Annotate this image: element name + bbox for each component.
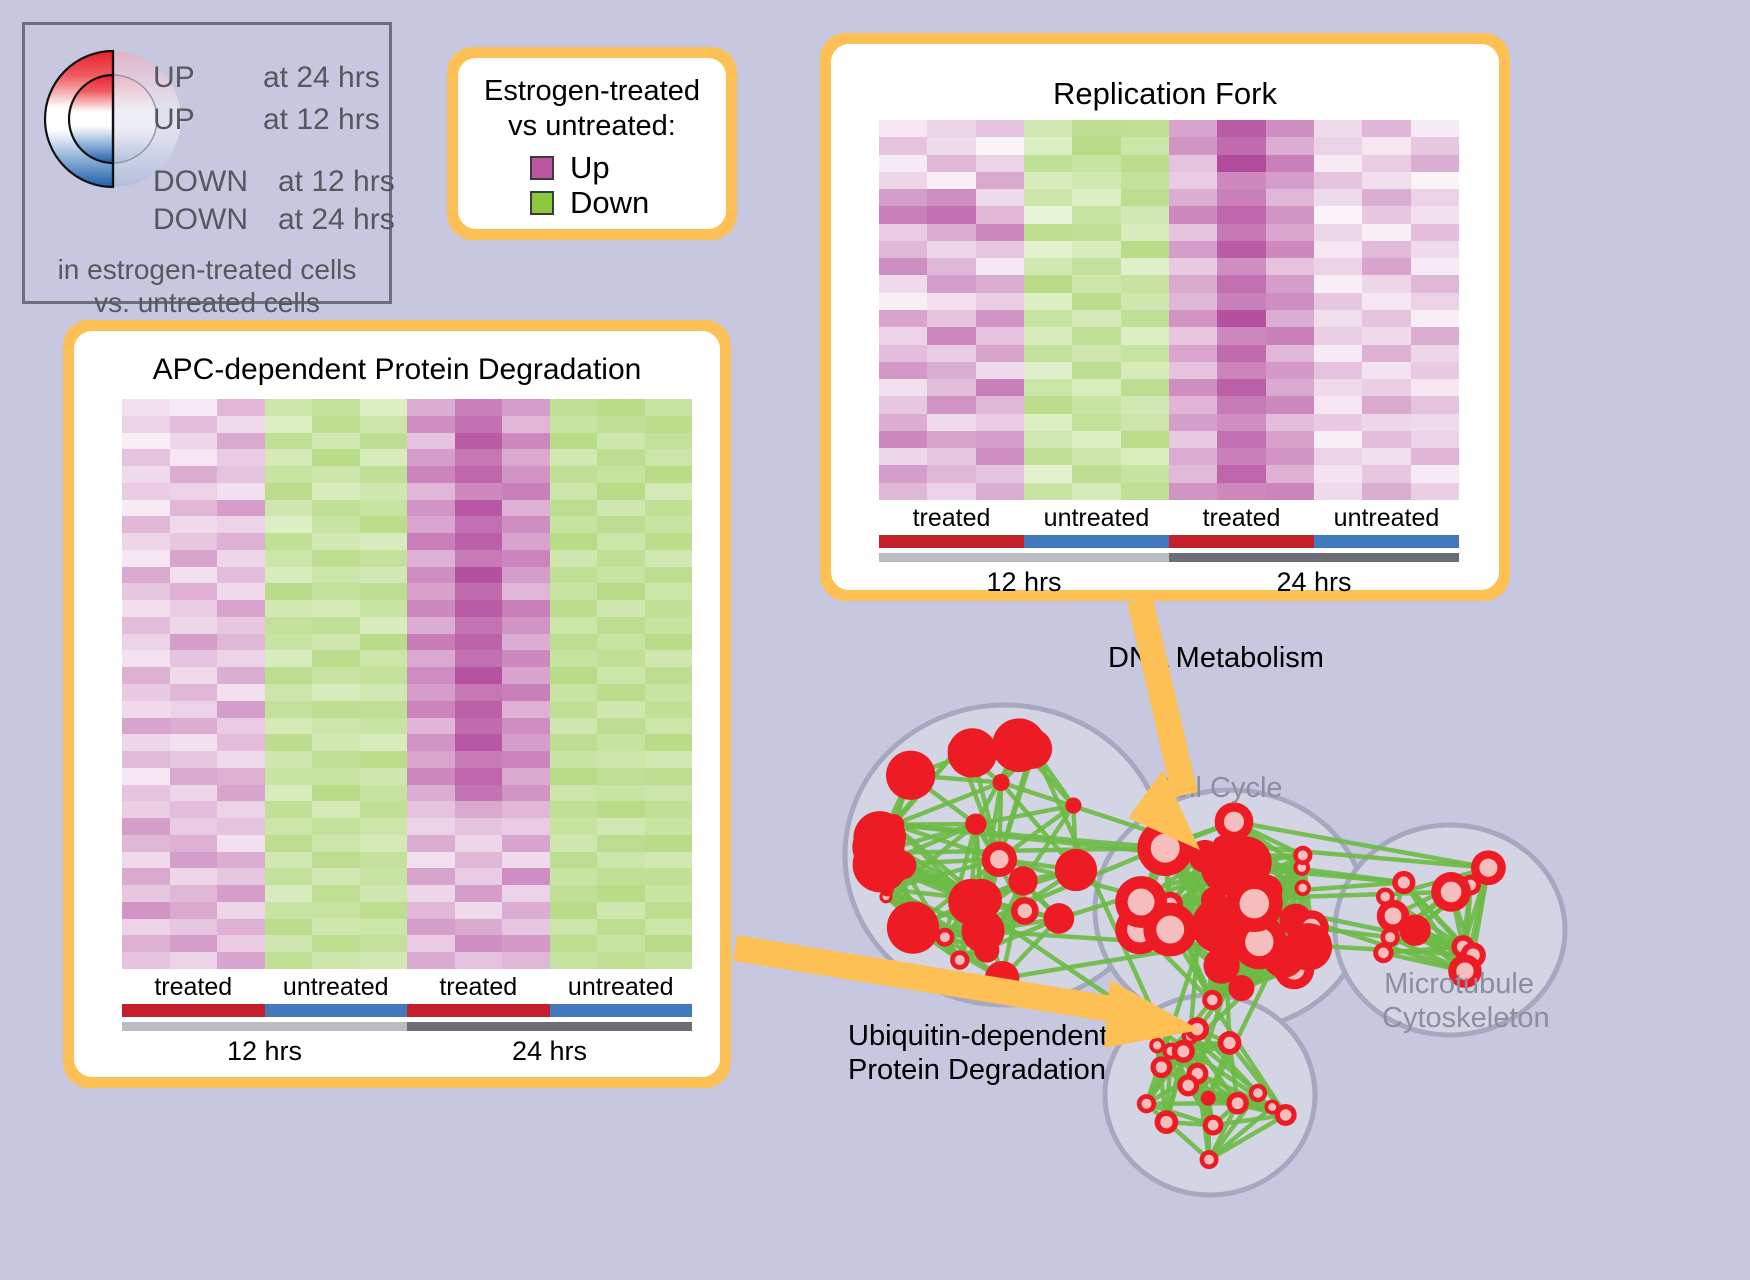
heatmap-cell [170, 600, 218, 617]
heatmap-cell [407, 785, 455, 802]
heatmap-cell [976, 414, 1024, 431]
heatmap-cell [407, 952, 455, 969]
heatmap-cell [976, 379, 1024, 396]
heatmap-cell [312, 902, 360, 919]
heatmap-cell [645, 801, 693, 818]
heatmap-cell [550, 449, 598, 466]
heatmap-cell [550, 667, 598, 684]
heatmap-cell [1121, 310, 1169, 327]
heatmap-cell [455, 852, 503, 869]
heatmap-cell [170, 801, 218, 818]
heatmap-cell [1217, 172, 1265, 189]
heatmap-cell [217, 952, 265, 969]
heatmap-cell [265, 449, 313, 466]
apc-degradation-heatmap [122, 399, 692, 969]
heatmap-cell [597, 550, 645, 567]
heatmap-cell [122, 952, 170, 969]
heatmap-cell [407, 466, 455, 483]
heatmap-cell [550, 483, 598, 500]
network-node [948, 728, 997, 777]
legend-direction: UP [153, 103, 263, 137]
heatmap-cell [122, 684, 170, 701]
heatmap-cell [312, 919, 360, 936]
heatmap-cell [360, 416, 408, 433]
heatmap-cell [1024, 310, 1072, 327]
heatmap-cell [265, 818, 313, 835]
heatmap-cell [927, 172, 975, 189]
heatmap-cell [597, 718, 645, 735]
heatmap-cell [1121, 172, 1169, 189]
heatmap-cell [1217, 310, 1265, 327]
heatmap-cell [1266, 396, 1314, 413]
legend-row-up-24: UP at 24 hrs [153, 61, 380, 95]
heatmap-cell [879, 224, 927, 241]
heatmap-cell [1024, 396, 1072, 413]
treatment-color-bar [879, 535, 1459, 548]
heatmap-cell [1411, 206, 1459, 223]
treatment-bar-segment [1169, 535, 1314, 548]
heatmap-cell [1266, 275, 1314, 292]
heatmap-cell [265, 885, 313, 902]
heatmap-cell [312, 416, 360, 433]
heatmap-cell [265, 801, 313, 818]
heatmap-cell [645, 516, 693, 533]
heatmap-cell [502, 835, 550, 852]
heatmap-cell [455, 600, 503, 617]
heatmap-cell [1411, 310, 1459, 327]
heatmap-cell [645, 449, 693, 466]
heatmap-cell [455, 483, 503, 500]
heatmap-cell [1024, 362, 1072, 379]
heatmap-cell [1217, 327, 1265, 344]
legend-row-up-12: UP at 12 hrs [153, 103, 380, 137]
heatmap-cell [170, 583, 218, 600]
heatmap-cell [407, 600, 455, 617]
heatmap-cell [1266, 448, 1314, 465]
heatmap-cell [645, 466, 693, 483]
heatmap-cell [1169, 241, 1217, 258]
heatmap-cell [1411, 155, 1459, 172]
heatmap-cell [360, 567, 408, 584]
network-node [1065, 798, 1081, 814]
timepoint-labels: 12 hrs 24 hrs [879, 567, 1459, 598]
apc-degradation-panel: APC-dependent Protein Degradation treate… [63, 320, 731, 1088]
heatmap-cell [122, 516, 170, 533]
heatmap-cell [502, 634, 550, 651]
heatmap-cell [502, 500, 550, 517]
timepoint-color-bar [122, 1022, 692, 1031]
heatmap-cell [217, 768, 265, 785]
network-node [886, 751, 935, 800]
heatmap-cell [879, 345, 927, 362]
heatmap-cell [265, 667, 313, 684]
heatmap-cell [1121, 414, 1169, 431]
timepoint-bar-segment [122, 1022, 407, 1031]
heatmap-cell [1362, 224, 1410, 241]
heatmap-cell [879, 137, 927, 154]
heatmap-cell [122, 533, 170, 550]
heatmap-cell [976, 137, 1024, 154]
heatmap-cell [645, 919, 693, 936]
heatmap-cell [360, 768, 408, 785]
heatmap-cell [645, 751, 693, 768]
heatmap-cell [122, 919, 170, 936]
heatmap-cell [502, 567, 550, 584]
heatmap-cell [455, 734, 503, 751]
heatmap-cell [1121, 206, 1169, 223]
heatmap-cell [597, 818, 645, 835]
heatmap-cell [312, 433, 360, 450]
heatmap-cell [502, 818, 550, 835]
heatmap-cell [1169, 275, 1217, 292]
heatmap-cell [1024, 431, 1072, 448]
heatmap-cell [217, 734, 265, 751]
heatmap-cell [645, 483, 693, 500]
heatmap-cell [976, 206, 1024, 223]
heatmap-cell [312, 751, 360, 768]
timepoint-label: 24 hrs [1169, 567, 1459, 598]
heatmap-cell [217, 449, 265, 466]
heatmap-cell [1024, 172, 1072, 189]
heatmap-cell [1169, 189, 1217, 206]
cluster-label-microtubule-cytoskeleton: Microtubule Cytoskeleton [1382, 968, 1534, 1035]
heatmap-cell [597, 500, 645, 517]
heatmap-cell [597, 868, 645, 885]
heatmap-cell [1411, 362, 1459, 379]
heatmap-cell [1072, 224, 1120, 241]
color-key-title-line2: vs untreated: [458, 109, 726, 144]
heatmap-cell [312, 483, 360, 500]
heatmap-cell [312, 617, 360, 634]
heatmap-cell [1217, 275, 1265, 292]
legend-time: at 24 hrs [263, 61, 380, 95]
heatmap-cell [1072, 120, 1120, 137]
heatmap-cell [1072, 414, 1120, 431]
heatmap-cell [265, 684, 313, 701]
heatmap-cell [1362, 448, 1410, 465]
heatmap-cell [550, 650, 598, 667]
heatmap-cell [879, 172, 927, 189]
network-node [1201, 1091, 1216, 1106]
heatmap-cell [1362, 120, 1410, 137]
heatmap-cell [645, 500, 693, 517]
network-node [993, 774, 1010, 791]
heatmap-cell [1169, 362, 1217, 379]
heatmap-cell [1121, 189, 1169, 206]
heatmap-cell [1121, 224, 1169, 241]
heatmap-cell [502, 483, 550, 500]
treatment-bar-segment [1024, 535, 1169, 548]
heatmap-cell [550, 801, 598, 818]
heatmap-cell [122, 466, 170, 483]
heatmap-cell [312, 550, 360, 567]
network-node [1055, 849, 1097, 891]
heatmap-cell [1314, 120, 1362, 137]
heatmap-cell [407, 885, 455, 902]
heatmap-cell [217, 801, 265, 818]
heatmap-cell [597, 416, 645, 433]
heatmap-cell [455, 416, 503, 433]
heatmap-cell [360, 919, 408, 936]
heatmap-cell [976, 293, 1024, 310]
heatmap-cell [597, 885, 645, 902]
heatmap-cell [1072, 327, 1120, 344]
heatmap-cell [1169, 448, 1217, 465]
heatmap-cell [597, 701, 645, 718]
heatmap-cell [1024, 465, 1072, 482]
group-name: treated [1169, 504, 1314, 533]
heatmap-cell [645, 684, 693, 701]
heatmap-cell [312, 449, 360, 466]
heatmap-cell [976, 275, 1024, 292]
heatmap-cell [1362, 155, 1410, 172]
heatmap-cell [170, 952, 218, 969]
heatmap-cell [879, 120, 927, 137]
heatmap-cell [927, 327, 975, 344]
replication-fork-axis: treated untreated treated untreated 12 h… [879, 504, 1459, 598]
heatmap-cell [976, 172, 1024, 189]
heatmap-cell [1072, 155, 1120, 172]
heatmap-cell [312, 516, 360, 533]
heatmap-cell [1266, 120, 1314, 137]
heatmap-cell [1314, 362, 1362, 379]
heatmap-cell [1217, 155, 1265, 172]
heatmap-cell [1266, 241, 1314, 258]
replication-fork-heatmap [879, 120, 1459, 500]
heatmap-cell [1314, 310, 1362, 327]
heatmap-cell [1072, 293, 1120, 310]
heatmap-cell [1217, 137, 1265, 154]
heatmap-cell [1217, 241, 1265, 258]
heatmap-cell [312, 399, 360, 416]
heatmap-cell [360, 466, 408, 483]
heatmap-cell [1072, 310, 1120, 327]
heatmap-cell [645, 533, 693, 550]
heatmap-cell [122, 751, 170, 768]
heatmap-cell [502, 734, 550, 751]
heatmap-cell [502, 701, 550, 718]
heatmap-cell [265, 852, 313, 869]
heatmap-cell [1217, 483, 1265, 500]
heatmap-cell [502, 433, 550, 450]
heatmap-cell [1314, 379, 1362, 396]
heatmap-cell [1217, 465, 1265, 482]
heatmap-cell [265, 550, 313, 567]
heatmap-cell [122, 785, 170, 802]
heatmap-cell [879, 448, 927, 465]
heatmap-cell [550, 902, 598, 919]
heatmap-cell [1121, 396, 1169, 413]
heatmap-cell [312, 852, 360, 869]
heatmap-cell [645, 550, 693, 567]
heatmap-cell [502, 516, 550, 533]
replication-fork-title: Replication Fork [831, 76, 1499, 112]
heatmap-cell [1024, 414, 1072, 431]
heatmap-cell [1169, 327, 1217, 344]
heatmap-cell [1024, 327, 1072, 344]
legend-direction: DOWN [153, 203, 278, 237]
heatmap-cell [360, 634, 408, 651]
heatmap-cell [360, 600, 408, 617]
heatmap-cell [550, 701, 598, 718]
heatmap-cell [1024, 189, 1072, 206]
heatmap-cell [1024, 120, 1072, 137]
treatment-bar-segment [1314, 535, 1459, 548]
heatmap-cell [1314, 345, 1362, 362]
heatmap-cell [170, 684, 218, 701]
heatmap-cell [1314, 224, 1362, 241]
heatmap-cell [170, 818, 218, 835]
heatmap-cell [122, 500, 170, 517]
heatmap-cell [1072, 258, 1120, 275]
heatmap-cell [879, 258, 927, 275]
legend-time: at 12 hrs [278, 165, 395, 199]
heatmap-cell [1121, 448, 1169, 465]
heatmap-cell [597, 801, 645, 818]
heatmap-cell [976, 241, 1024, 258]
heatmap-cell [170, 449, 218, 466]
legend-caption-line2: vs. untreated cells [25, 286, 389, 319]
heatmap-cell [550, 868, 598, 885]
heatmap-cell [550, 416, 598, 433]
heatmap-cell [265, 483, 313, 500]
heatmap-cell [645, 399, 693, 416]
heatmap-cell [1314, 465, 1362, 482]
heatmap-cell [407, 449, 455, 466]
heatmap-cell [455, 399, 503, 416]
heatmap-cell [1217, 379, 1265, 396]
heatmap-cell [312, 718, 360, 735]
heatmap-cell [407, 919, 455, 936]
heatmap-cell [597, 751, 645, 768]
heatmap-cell [976, 431, 1024, 448]
heatmap-cell [1121, 293, 1169, 310]
heatmap-cell [170, 399, 218, 416]
heatmap-cell [122, 852, 170, 869]
heatmap-cell [502, 667, 550, 684]
heatmap-cell [217, 399, 265, 416]
heatmap-cell [360, 500, 408, 517]
heatmap-cell [645, 768, 693, 785]
heatmap-cell [502, 751, 550, 768]
heatmap-cell [597, 399, 645, 416]
heatmap-cell [1314, 396, 1362, 413]
heatmap-cell [455, 902, 503, 919]
heatmap-cell [1411, 465, 1459, 482]
heatmap-cell [550, 583, 598, 600]
heatmap-cell [550, 852, 598, 869]
heatmap-cell [312, 768, 360, 785]
heatmap-cell [1411, 327, 1459, 344]
heatmap-cell [597, 567, 645, 584]
heatmap-cell [407, 567, 455, 584]
heatmap-cell [170, 433, 218, 450]
heatmap-cell [217, 935, 265, 952]
heatmap-cell [1072, 345, 1120, 362]
heatmap-cell [879, 275, 927, 292]
heatmap-cell [455, 617, 503, 634]
legend-direction: DOWN [153, 165, 278, 199]
legend-caption: in estrogen-treated cells vs. untreated … [25, 253, 389, 319]
heatmap-cell [1314, 137, 1362, 154]
legend-direction: UP [153, 61, 263, 95]
heatmap-cell [265, 500, 313, 517]
heatmap-cell [645, 600, 693, 617]
heatmap-cell [217, 617, 265, 634]
color-key-title-line1: Estrogen-treated [458, 74, 726, 109]
heatmap-cell [1411, 224, 1459, 241]
heatmap-cell [927, 293, 975, 310]
heatmap-cell [1314, 414, 1362, 431]
heatmap-cell [502, 868, 550, 885]
heatmap-cell [122, 583, 170, 600]
heatmap-cell [1072, 379, 1120, 396]
heatmap-cell [879, 293, 927, 310]
heatmap-cell [455, 768, 503, 785]
heatmap-cell [597, 634, 645, 651]
heatmap-cell [1411, 483, 1459, 500]
heatmap-cell [360, 550, 408, 567]
heatmap-cell [1266, 362, 1314, 379]
cluster-label-dna-metabolism: DNA Metabolism [1108, 642, 1324, 676]
heatmap-cell [879, 483, 927, 500]
heatmap-cell [312, 533, 360, 550]
heatmap-cell [645, 567, 693, 584]
heatmap-cell [217, 583, 265, 600]
heatmap-cell [1217, 189, 1265, 206]
cluster-label-line1: Ubiquitin-dependent [848, 1020, 1108, 1054]
heatmap-cell [550, 835, 598, 852]
heatmap-cell [407, 634, 455, 651]
heatmap-cell [1266, 258, 1314, 275]
heatmap-cell [597, 466, 645, 483]
heatmap-cell [597, 483, 645, 500]
heatmap-cell [265, 650, 313, 667]
heatmap-cell [1169, 120, 1217, 137]
heatmap-cell [455, 935, 503, 952]
heatmap-cell [170, 919, 218, 936]
heatmap-cell [879, 431, 927, 448]
heatmap-cell [122, 399, 170, 416]
heatmap-cell [170, 835, 218, 852]
heatmap-cell [312, 868, 360, 885]
heatmap-cell [502, 600, 550, 617]
heatmap-cell [122, 868, 170, 885]
heatmap-cell [879, 396, 927, 413]
heatmap-cell [550, 617, 598, 634]
network-node [1285, 923, 1332, 970]
heatmap-cell [1169, 414, 1217, 431]
heatmap-cell [217, 751, 265, 768]
heatmap-cell [550, 935, 598, 952]
heatmap-cell [312, 583, 360, 600]
heatmap-cell [550, 768, 598, 785]
heatmap-cell [1024, 275, 1072, 292]
heatmap-cell [360, 650, 408, 667]
heatmap-cell [122, 734, 170, 751]
heatmap-cell [976, 448, 1024, 465]
group-names: treated untreated treated untreated [122, 973, 692, 1002]
heatmap-cell [927, 206, 975, 223]
heatmap-cell [407, 701, 455, 718]
heatmap-cell [597, 684, 645, 701]
heatmap-cell [1217, 414, 1265, 431]
heatmap-cell [927, 310, 975, 327]
heatmap-cell [1121, 275, 1169, 292]
heatmap-cell [879, 327, 927, 344]
heatmap-cell [265, 751, 313, 768]
heatmap-cell [597, 667, 645, 684]
